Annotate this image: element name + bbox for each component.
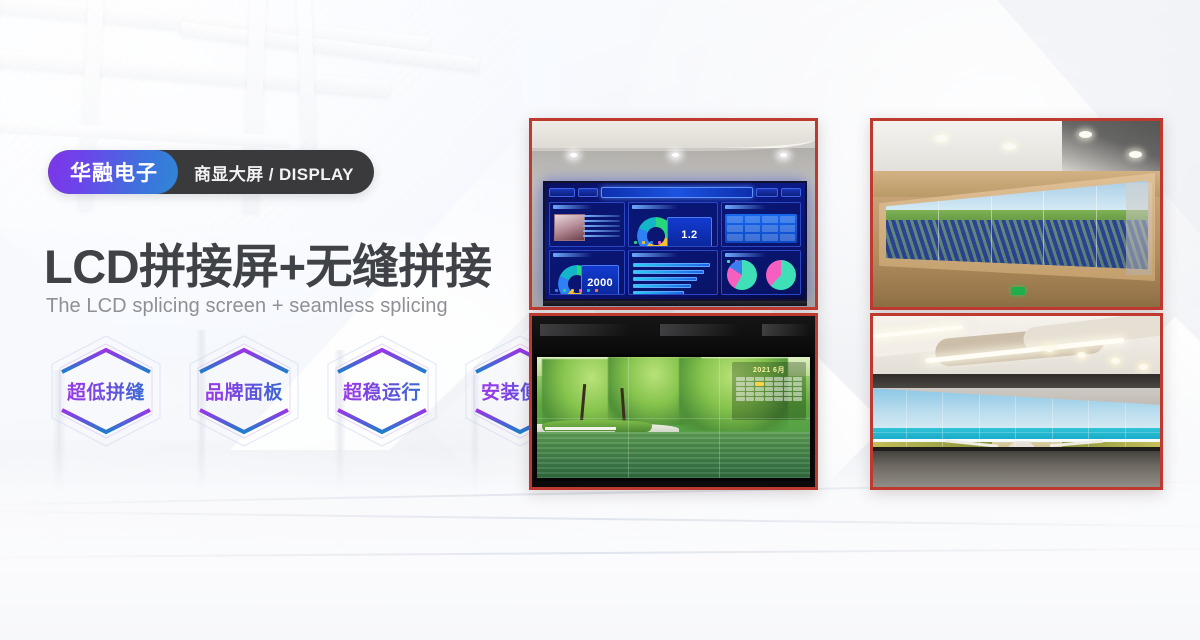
flow-node	[762, 225, 777, 232]
calendar-cell	[765, 382, 774, 386]
dashboard-nav-chip	[549, 188, 575, 197]
flow-node	[780, 225, 795, 232]
doorway	[1126, 183, 1152, 275]
ceiling-light-icon	[1129, 151, 1142, 158]
bar-chart	[633, 263, 713, 291]
calendar-cell	[765, 392, 774, 396]
dashboard-nav-chip	[781, 188, 801, 197]
exit-sign-icon	[1011, 287, 1025, 295]
calendar-cell	[746, 387, 755, 391]
calendar-cell	[774, 382, 783, 386]
feature-badge-label: 品牌面板	[182, 378, 306, 405]
dashboard-card-grid: 1.2	[549, 202, 801, 295]
calendar-cell	[755, 397, 764, 401]
bar	[633, 291, 684, 295]
calendar-title: 2021 6月	[736, 365, 802, 375]
calendar-cell	[746, 382, 755, 386]
legend-dot	[595, 289, 598, 292]
ceiling-reflection	[540, 324, 630, 336]
dashboard-nav-chip	[578, 188, 598, 197]
photo-dashboard-video-wall[interactable]: 1.2	[529, 118, 818, 310]
dashboard-card-kpi-primary: 1.2	[628, 202, 718, 247]
legend-dot	[658, 241, 661, 244]
photo-beach-boardwalk-video-wall[interactable]	[870, 313, 1163, 490]
legend-dot	[642, 241, 645, 244]
text-line	[583, 230, 620, 232]
legend-dot	[555, 289, 558, 292]
calendar-cell	[736, 392, 745, 396]
video-wall-screen: 2021 6月	[537, 357, 810, 478]
panel-seam	[1043, 179, 1044, 273]
ceiling-reflection	[762, 324, 810, 336]
photo-scene	[873, 121, 1160, 307]
calendar-cell	[774, 377, 783, 381]
chart-legend	[634, 241, 713, 244]
ceiling-light-icon	[935, 135, 948, 142]
screen-base	[577, 482, 769, 487]
calendar-cell	[784, 377, 793, 381]
calendar-cell	[774, 397, 783, 401]
banner-root: 华融电子 商显大屏 / DISPLAY LCD拼接屏+无缝拼接 The LCD …	[0, 0, 1200, 640]
hedge	[542, 420, 651, 432]
panel-seam	[873, 432, 1160, 433]
calendar-cell	[784, 382, 793, 386]
dashboard-card-flow	[721, 202, 801, 247]
flow-diagram	[725, 214, 797, 243]
calendar-grid	[736, 377, 802, 401]
white-railing	[545, 427, 616, 430]
ceiling	[532, 121, 815, 151]
legend-dot	[563, 289, 566, 292]
calendar-cell	[755, 387, 764, 391]
ceiling-light-icon	[1077, 352, 1086, 358]
flow-node	[762, 234, 777, 241]
calendar-cell	[784, 387, 793, 391]
calendar-cell	[736, 377, 745, 381]
calendar-cell	[755, 392, 764, 396]
flow-node	[727, 234, 742, 241]
photo-solar-farm-video-wall[interactable]	[870, 118, 1163, 310]
brand-pill: 华融电子 商显大屏 / DISPLAY	[48, 150, 374, 194]
dashboard-nav-chip	[756, 188, 778, 197]
ceiling-light-icon	[1003, 143, 1016, 150]
ceiling-light-icon	[1139, 364, 1148, 370]
calendar-cell	[755, 382, 764, 386]
dashboard-topbar	[549, 186, 801, 199]
dashboard-card-kpi-secondary: 2000	[549, 250, 625, 295]
ceiling-light-icon	[672, 153, 679, 157]
ceiling-light-icon	[1079, 131, 1092, 138]
calendar-cell	[793, 397, 802, 401]
photo-lake-willow-video-wall[interactable]: 2021 6月	[529, 313, 818, 490]
floor	[873, 451, 1160, 487]
feature-badge-label: 超稳运行	[320, 378, 444, 405]
flow-node	[727, 225, 742, 232]
calendar-cell	[736, 387, 745, 391]
feature-badge-label: 超低拼缝	[44, 378, 168, 405]
ceiling-light-icon	[570, 153, 577, 157]
text-line	[583, 220, 620, 222]
ceiling-light-icon	[1045, 346, 1054, 352]
page-title: LCD拼接屏+无缝拼接	[44, 228, 492, 297]
bar	[633, 284, 690, 288]
calendar-cell	[755, 377, 764, 381]
photo-scene: 2021 6月	[532, 316, 815, 487]
legend-dot	[587, 289, 590, 292]
screen-base	[543, 301, 807, 306]
photo-scene	[873, 316, 1160, 487]
dashboard-card-intro	[549, 202, 625, 247]
brand-logo: 华融电子	[48, 150, 178, 194]
video-wall-bezel: 2021 6月	[534, 354, 813, 481]
bar	[633, 263, 710, 267]
calendar-cell	[774, 392, 783, 396]
calendar-cell	[793, 377, 802, 381]
text-line	[583, 235, 620, 237]
calendar-cell	[765, 387, 774, 391]
feature-badge-list: 超低拼缝 品牌面板	[44, 332, 582, 450]
flow-node	[762, 216, 777, 223]
feature-badge-3: 超稳运行	[320, 332, 444, 450]
calendar-cell	[774, 387, 783, 391]
legend-dot	[650, 241, 653, 244]
flow-node	[780, 216, 795, 223]
calendar-cell	[784, 392, 793, 396]
calendar-cell	[793, 392, 802, 396]
bar	[633, 270, 703, 274]
photo-scene: 1.2	[532, 121, 815, 307]
pie-chart	[766, 260, 796, 290]
flow-node	[745, 234, 760, 241]
text-line	[583, 215, 620, 217]
ceiling-light-icon	[1111, 358, 1120, 364]
panel-seam	[1096, 179, 1097, 273]
calendar-overlay: 2021 6月	[732, 362, 806, 420]
flow-node	[780, 234, 795, 241]
brand-tagline: 商显大屏 / DISPLAY	[178, 150, 374, 194]
flow-node	[745, 216, 760, 223]
water-reflection	[537, 432, 810, 478]
flow-node	[727, 216, 742, 223]
chart-legend	[555, 289, 620, 292]
dashboard-title-bar	[601, 187, 753, 198]
calendar-cell	[793, 387, 802, 391]
calendar-cell	[736, 397, 745, 401]
calendar-cell	[765, 397, 774, 401]
ceiling-dark-panel	[1062, 121, 1160, 177]
legend-dot	[634, 241, 637, 244]
feature-badge-1: 超低拼缝	[44, 332, 168, 450]
flow-node	[745, 225, 760, 232]
calendar-cell	[765, 377, 774, 381]
pie-chart-group	[722, 260, 800, 290]
feature-badge-2: 品牌面板	[182, 332, 306, 450]
pie-chart	[727, 260, 757, 290]
dashboard-screen: 1.2	[543, 181, 807, 301]
calendar-cell	[736, 382, 745, 386]
ceiling-light-icon	[780, 153, 787, 157]
calendar-cell	[746, 397, 755, 401]
legend-dot	[579, 289, 582, 292]
calendar-cell	[746, 377, 755, 381]
panel-seam	[537, 418, 810, 419]
text-line	[583, 225, 620, 227]
legend-dot	[571, 289, 574, 292]
text-column: 华融电子 商显大屏 / DISPLAY LCD拼接屏+无缝拼接 The LCD …	[0, 0, 530, 640]
dark-beam	[873, 374, 1160, 388]
product-photo-grid: 1.2	[529, 118, 1163, 490]
dashboard-thumbnail	[554, 214, 585, 241]
calendar-cell	[793, 382, 802, 386]
dashboard-text-lines	[583, 215, 620, 240]
calendar-cell	[784, 397, 793, 401]
bar	[633, 277, 697, 281]
dashboard-card-ranking	[628, 250, 718, 295]
calendar-cell	[746, 392, 755, 396]
ceiling-reflection	[660, 324, 740, 336]
dashboard-card-pies	[721, 250, 801, 295]
page-subtitle: The LCD splicing screen + seamless splic…	[46, 295, 448, 318]
